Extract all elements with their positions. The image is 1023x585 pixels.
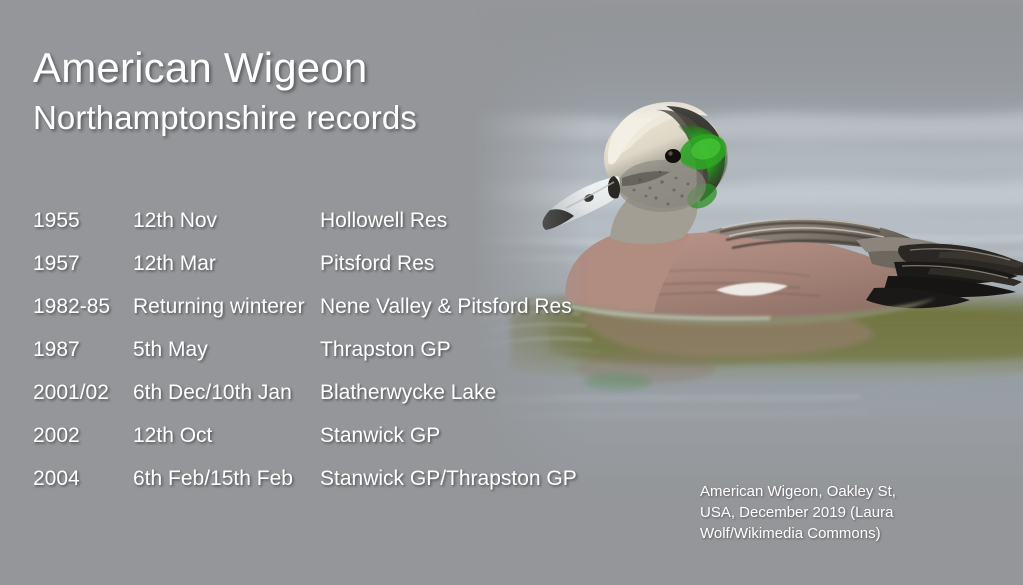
photo-caption-line-3: Wolf/Wikimedia Commons)	[700, 523, 940, 544]
photo-caption-line-1: American Wigeon, Oakley St,	[700, 481, 940, 502]
page-title: American Wigeon	[33, 44, 367, 92]
record-date: 12th Mar	[133, 252, 320, 276]
record-year: 1987	[33, 338, 133, 362]
record-date: 5th May	[133, 338, 320, 362]
record-year: 2002	[33, 424, 133, 448]
table-row: 2001/02 6th Dec/10th Jan Blatherwycke La…	[33, 381, 613, 424]
table-row: 1982-85 Returning winterer Nene Valley &…	[33, 295, 613, 338]
record-date: Returning winterer	[133, 295, 320, 319]
table-row: 2002 12th Oct Stanwick GP	[33, 424, 613, 467]
record-site: Blatherwycke Lake	[320, 381, 613, 405]
record-date: 12th Oct	[133, 424, 320, 448]
slide-canvas: American Wigeon Northamptonshire records…	[0, 0, 1023, 585]
record-site: Hollowell Res	[320, 209, 613, 233]
records-list: 1955 12th Nov Hollowell Res 1957 12th Ma…	[33, 209, 613, 510]
table-row: 2004 6th Feb/15th Feb Stanwick GP/Thraps…	[33, 467, 613, 510]
photo-caption-line-2: USA, December 2019 (Laura	[700, 502, 940, 523]
record-year: 1955	[33, 209, 133, 233]
record-date: 12th Nov	[133, 209, 320, 233]
record-year: 2004	[33, 467, 133, 491]
table-row: 1957 12th Mar Pitsford Res	[33, 252, 613, 295]
record-year: 1982-85	[33, 295, 133, 319]
record-date: 6th Dec/10th Jan	[133, 381, 320, 405]
table-row: 1987 5th May Thrapston GP	[33, 338, 613, 381]
record-site: Pitsford Res	[320, 252, 613, 276]
record-site: Nene Valley & Pitsford Res	[320, 295, 613, 319]
photo-caption: American Wigeon, Oakley St, USA, Decembe…	[700, 481, 940, 544]
record-date: 6th Feb/15th Feb	[133, 467, 320, 491]
table-row: 1955 12th Nov Hollowell Res	[33, 209, 613, 252]
record-year: 2001/02	[33, 381, 133, 405]
record-year: 1957	[33, 252, 133, 276]
record-site: Stanwick GP/Thrapston GP	[320, 467, 613, 491]
record-site: Thrapston GP	[320, 338, 613, 362]
page-subtitle: Northamptonshire records	[33, 99, 417, 137]
record-site: Stanwick GP	[320, 424, 613, 448]
